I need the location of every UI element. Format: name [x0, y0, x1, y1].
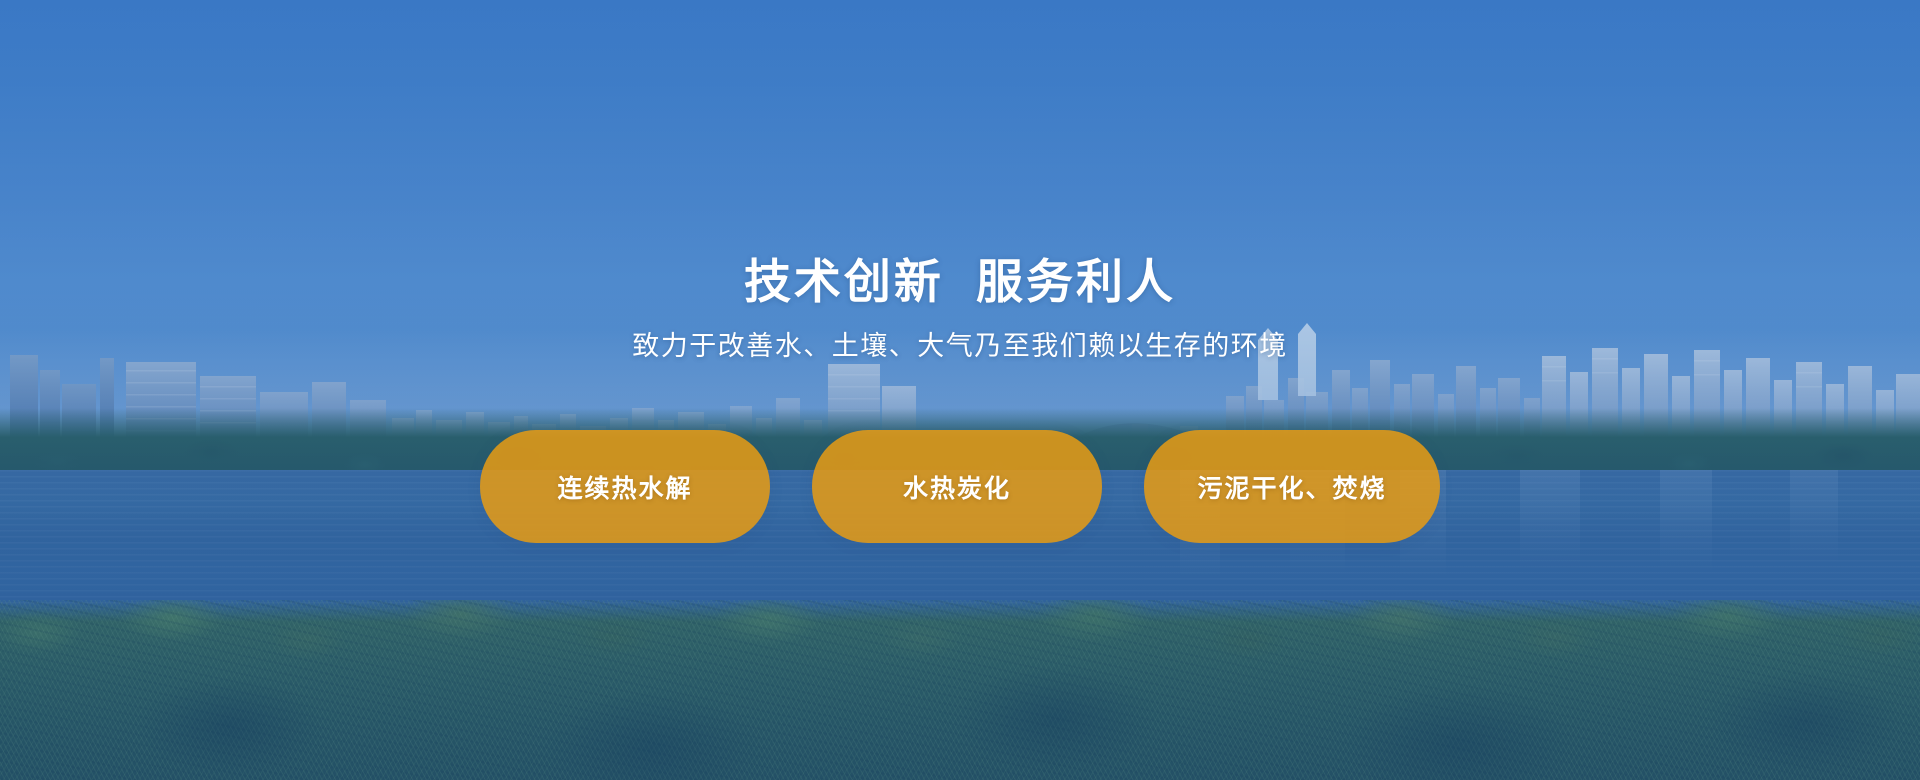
hero-banner: 技术创新 服务利人 致力于改善水、土壤、大气乃至我们赖以生存的环境 连续热水解 …: [0, 0, 1920, 780]
cta-button-sludge-drying-incineration[interactable]: 污泥干化、焚烧: [1144, 430, 1440, 543]
cta-button-continuous-thermal-hydrolysis[interactable]: 连续热水解: [480, 430, 770, 543]
cta-button-hydrothermal-carbonization[interactable]: 水热炭化: [812, 430, 1102, 543]
hero-content: 技术创新 服务利人 致力于改善水、土壤、大气乃至我们赖以生存的环境 连续热水解 …: [0, 0, 1920, 780]
cta-button-row: 连续热水解 水热炭化 污泥干化、焚烧: [480, 430, 1440, 543]
page-title: 技术创新 服务利人: [744, 258, 1176, 305]
page-subtitle: 致力于改善水、土壤、大气乃至我们赖以生存的环境: [632, 333, 1288, 360]
